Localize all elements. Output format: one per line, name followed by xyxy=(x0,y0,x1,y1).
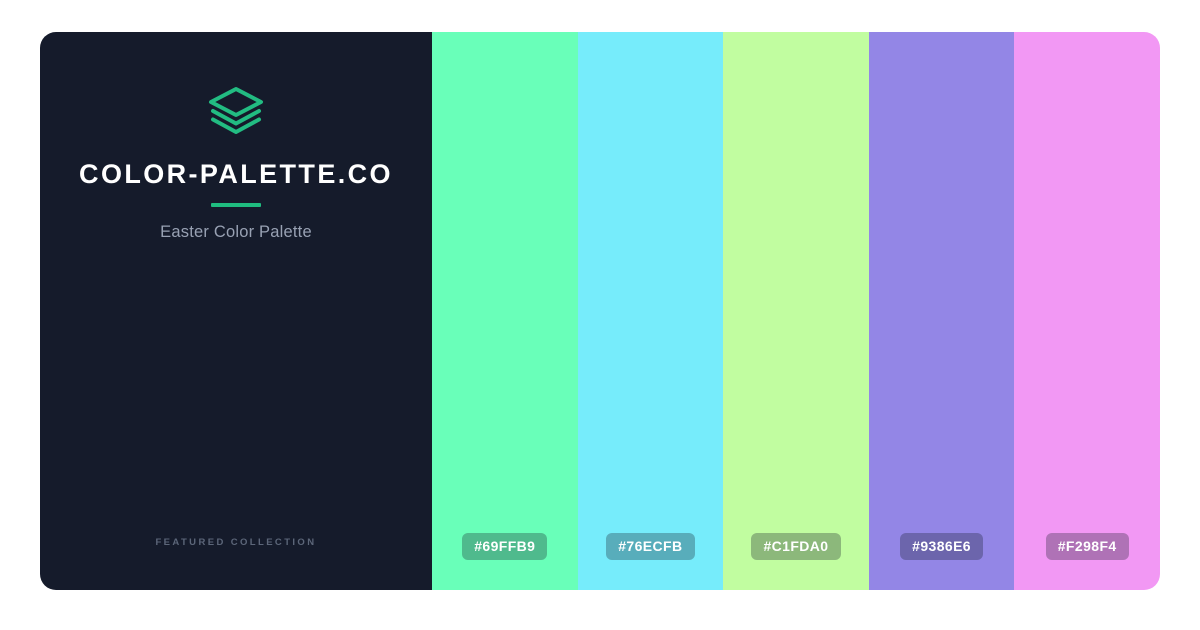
swatch-3[interactable]: #C1FDA0 xyxy=(723,32,869,590)
swatch-5[interactable]: #F298F4 xyxy=(1014,32,1160,590)
swatch-hex-label[interactable]: #69FFB9 xyxy=(462,533,547,560)
featured-collection-label: FEATURED COLLECTION xyxy=(40,537,432,548)
swatch-list: #69FFB9 #76ECFB #C1FDA0 #9386E6 #F298F4 xyxy=(432,32,1160,590)
swatch-4[interactable]: #9386E6 xyxy=(869,32,1015,590)
swatch-hex-label[interactable]: #76ECFB xyxy=(606,533,694,560)
layers-stack-icon xyxy=(207,85,265,135)
swatch-2[interactable]: #76ECFB xyxy=(578,32,724,590)
palette-subtitle: Easter Color Palette xyxy=(160,223,312,243)
brand-panel: COLOR-PALETTE.CO Easter Color Palette FE… xyxy=(40,32,432,590)
brand-title: COLOR-PALETTE.CO xyxy=(79,161,393,188)
page-canvas: COLOR-PALETTE.CO Easter Color Palette FE… xyxy=(0,0,1200,630)
palette-card: COLOR-PALETTE.CO Easter Color Palette FE… xyxy=(40,32,1160,590)
swatch-hex-label[interactable]: #C1FDA0 xyxy=(751,533,840,560)
brand-header: COLOR-PALETTE.CO Easter Color Palette xyxy=(40,85,432,243)
swatch-1[interactable]: #69FFB9 xyxy=(432,32,578,590)
swatch-hex-label[interactable]: #F298F4 xyxy=(1046,533,1129,560)
title-accent-bar xyxy=(211,203,261,207)
swatch-hex-label[interactable]: #9386E6 xyxy=(900,533,983,560)
